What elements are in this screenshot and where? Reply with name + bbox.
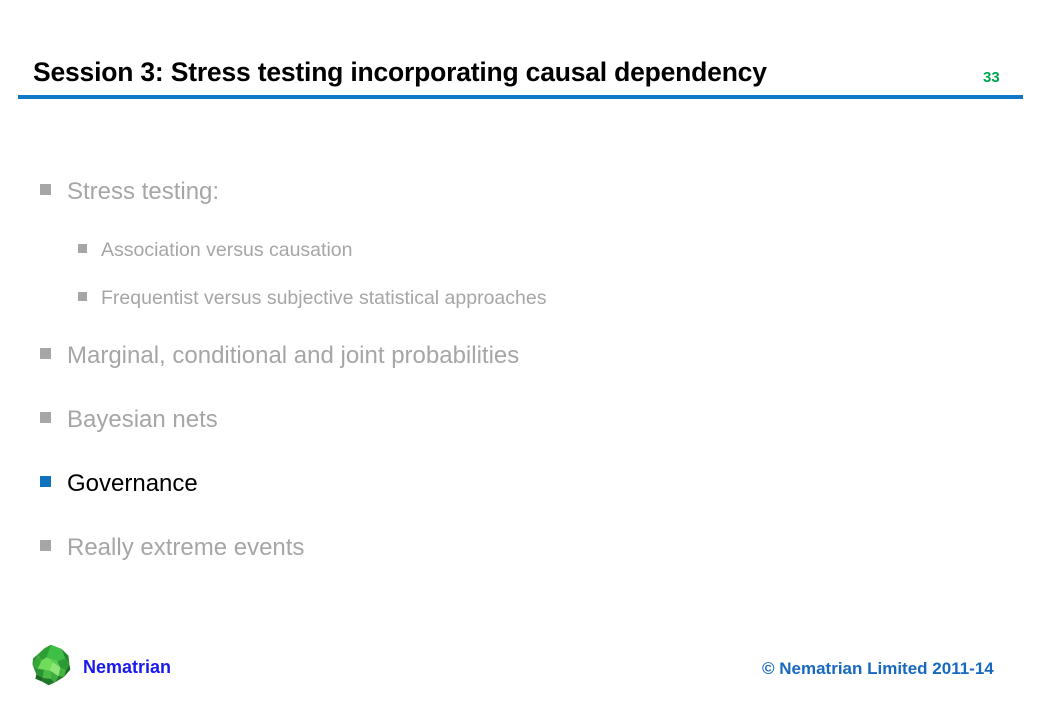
square-bullet-icon: [78, 244, 87, 253]
bullet-item: Association versus causation: [78, 238, 352, 262]
bullet-label: Association versus causation: [101, 238, 352, 262]
square-bullet-icon: [40, 348, 51, 359]
bullet-label: Governance: [67, 470, 198, 498]
bullet-label: Marginal, conditional and joint probabil…: [67, 342, 519, 370]
square-bullet-icon: [40, 540, 51, 551]
bullet-label: Stress testing:: [67, 178, 219, 206]
bullet-label: Frequentist versus subjective statistica…: [101, 286, 546, 310]
bullet-item: Really extreme events: [40, 534, 304, 562]
bullet-item: Stress testing:: [40, 178, 219, 206]
slide: Session 3: Stress testing incorporating …: [0, 0, 1040, 720]
bullet-list: Stress testing:Association versus causat…: [0, 0, 1040, 720]
brand-logo: Nematrian: [28, 642, 171, 688]
bullet-item: Bayesian nets: [40, 406, 218, 434]
square-bullet-icon: [40, 476, 51, 487]
brand-name: Nematrian: [83, 656, 171, 678]
polyhedron-globe-icon: [28, 642, 74, 688]
copyright-notice: © Nematrian Limited 2011-14: [762, 658, 994, 680]
bullet-item: Marginal, conditional and joint probabil…: [40, 342, 519, 370]
bullet-item: Frequentist versus subjective statistica…: [78, 286, 546, 310]
square-bullet-icon: [40, 184, 51, 195]
bullet-label: Really extreme events: [67, 534, 304, 562]
square-bullet-icon: [40, 412, 51, 423]
square-bullet-icon: [78, 292, 87, 301]
bullet-item: Governance: [40, 470, 198, 498]
bullet-label: Bayesian nets: [67, 406, 218, 434]
